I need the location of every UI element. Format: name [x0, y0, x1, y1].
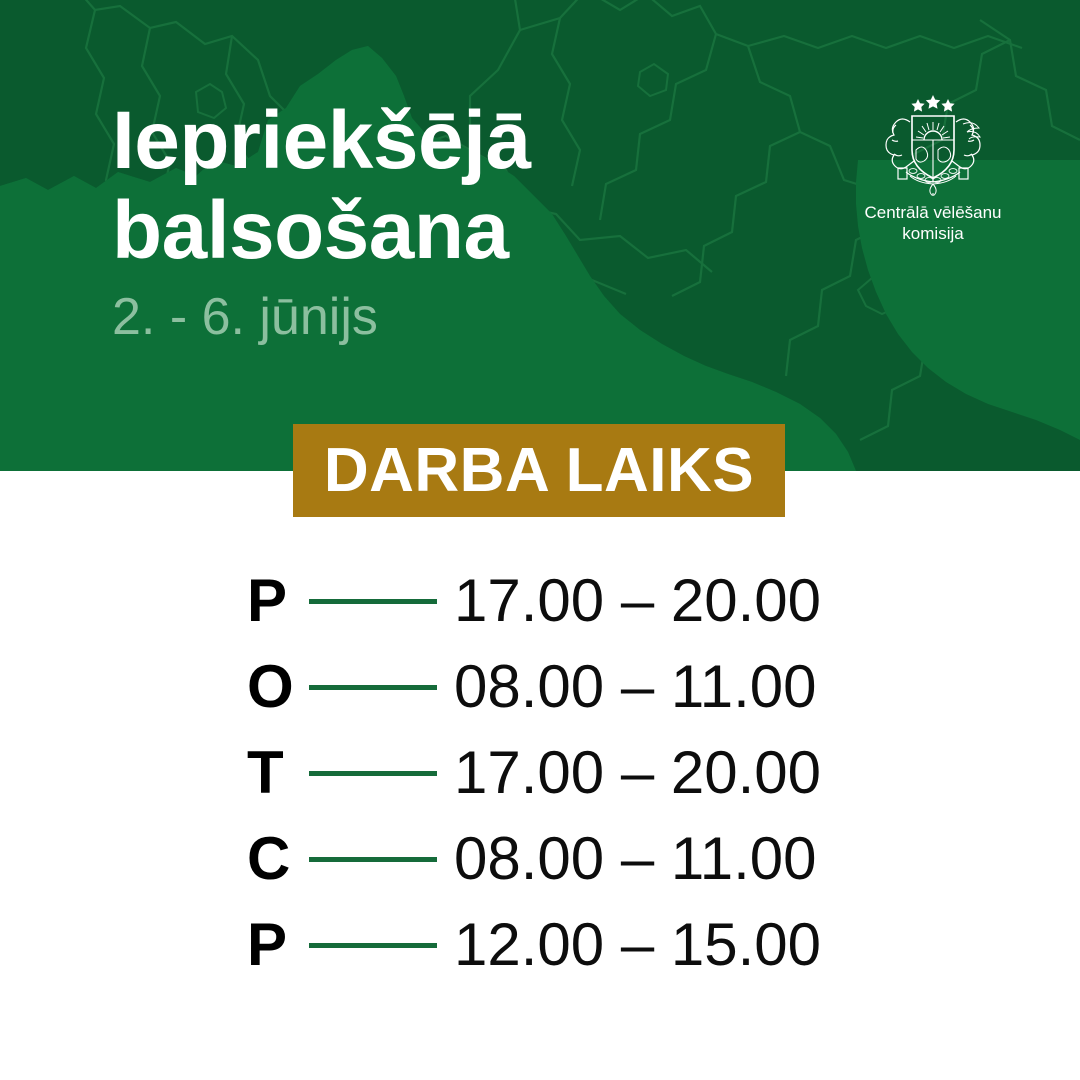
schedule-day-letter: C [247, 829, 307, 889]
schedule-day-letter: O [247, 657, 307, 717]
page-title-line-1: Iepriekšējā [112, 96, 732, 186]
darba-laiks-banner: DARBA LAIKS [293, 424, 785, 517]
header-band: Iepriekšējā balsošana 2. - 6. jūnijs [0, 0, 1080, 471]
schedule-time-range: 08.00 – 11.00 [454, 829, 817, 889]
schedule-time-range: 17.00 – 20.00 [454, 571, 821, 631]
schedule-dash-rule [309, 771, 437, 776]
schedule-time-range: 17.00 – 20.00 [454, 743, 821, 803]
schedule-time-range: 12.00 – 15.00 [454, 915, 821, 975]
schedule-dash-rule [309, 599, 437, 604]
schedule-day-letter: T [247, 743, 307, 803]
schedule-dash-rule [309, 857, 437, 862]
emblem-block: Centrālā vēlēšanu komisija [846, 92, 1020, 244]
schedule-row: C 08.00 – 11.00 [0, 816, 1080, 902]
latvia-coat-of-arms-icon [868, 92, 998, 196]
schedule-time-range: 08.00 – 11.00 [454, 657, 817, 717]
schedule-row: P 12.00 – 15.00 [0, 902, 1080, 988]
schedule-day-letter: P [247, 915, 307, 975]
title-block: Iepriekšējā balsošana 2. - 6. jūnijs [112, 96, 732, 346]
poster-root: Iepriekšējā balsošana 2. - 6. jūnijs [0, 0, 1080, 1080]
schedule-list: P 17.00 – 20.00 O 08.00 – 11.00 T 17.00 … [0, 558, 1080, 988]
emblem-caption-line-2: komisija [846, 223, 1020, 244]
emblem-caption: Centrālā vēlēšanu komisija [846, 202, 1020, 244]
schedule-day-letter: P [247, 571, 307, 631]
schedule-row: T 17.00 – 20.00 [0, 730, 1080, 816]
schedule-row: O 08.00 – 11.00 [0, 644, 1080, 730]
banner-label: DARBA LAIKS [324, 440, 754, 502]
schedule-row: P 17.00 – 20.00 [0, 558, 1080, 644]
page-title-line-2: balsošana [112, 186, 732, 276]
date-range-subtitle: 2. - 6. jūnijs [112, 288, 732, 346]
schedule-dash-rule [309, 685, 437, 690]
schedule-dash-rule [309, 943, 437, 948]
emblem-caption-line-1: Centrālā vēlēšanu [846, 202, 1020, 223]
